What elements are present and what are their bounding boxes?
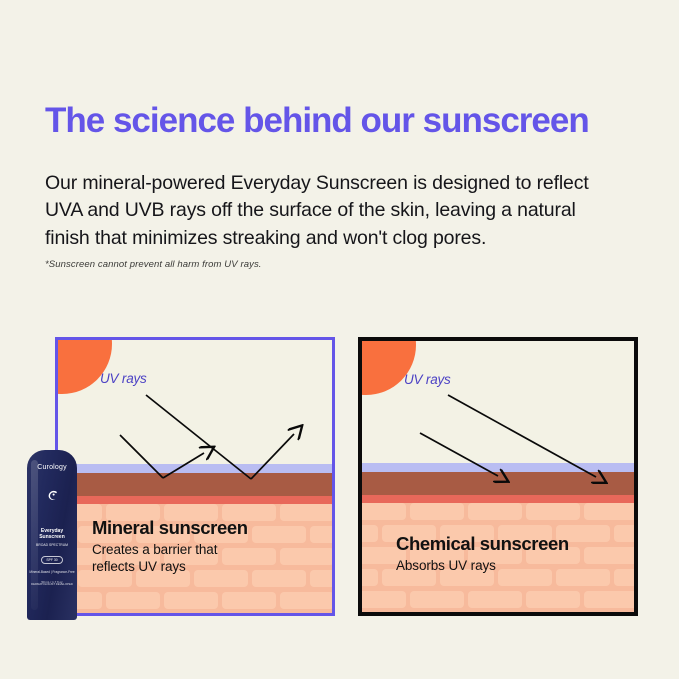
sunscreen-barrier-layer-mineral — [58, 464, 332, 473]
panel-scene-mineral: UV rays — [58, 340, 332, 613]
panel-scene-chemical: UV rays — [362, 341, 634, 612]
brick — [584, 591, 634, 608]
panel-caption-mineral: Mineral sunscreen Creates a barrier that… — [92, 517, 248, 575]
uv-rays-label-mineral: UV rays — [100, 371, 147, 386]
brick — [584, 503, 634, 520]
disclaimer-footnote: *Sunscreen cannot prevent all harm from … — [45, 259, 262, 270]
sunscreen-science-infographic: The science behind our sunscreen Our min… — [0, 0, 679, 679]
tube-product-name-line2: Sunscreen — [27, 534, 77, 540]
tube-size-text: 50 mL / 1.7 fl oz — [27, 580, 77, 584]
brick — [106, 592, 160, 609]
panel-subtitle-chemical-line1: Absorbs UV rays — [396, 557, 569, 574]
panel-subtitle-mineral-line2: reflects UV rays — [92, 558, 248, 575]
diagram-panel-mineral: UV rays — [55, 337, 335, 616]
blood-vessel-layer-mineral — [58, 496, 332, 504]
brick — [362, 525, 378, 542]
brick — [614, 525, 634, 542]
brick — [310, 570, 332, 587]
brick — [362, 503, 406, 520]
panel-subtitle-mineral-line1: Creates a barrier that — [92, 541, 248, 558]
brick — [362, 591, 406, 608]
curology-logo-icon — [45, 488, 60, 503]
sunscreen-barrier-layer-chemical — [362, 463, 634, 472]
tube-descriptor: BROAD SPECTRUM — [27, 543, 77, 548]
dermis-layer-mineral — [58, 473, 332, 496]
brick — [252, 526, 306, 543]
brick-row — [362, 503, 634, 525]
brick — [526, 591, 580, 608]
brick — [280, 592, 332, 609]
tube-claim: Mineral-Based | Fragrance-Free — [27, 570, 77, 575]
panel-title-chemical: Chemical sunscreen — [396, 533, 569, 555]
brick — [410, 591, 464, 608]
product-tube-everyday-sunscreen: Curology Everyday Sunscreen BROAD SPECTR… — [27, 450, 77, 620]
diagram-panel-chemical: UV rays — [358, 337, 638, 616]
panel-caption-chemical: Chemical sunscreen Absorbs UV rays — [396, 533, 569, 574]
brick — [526, 503, 580, 520]
uv-rays-label-chemical: UV rays — [404, 372, 451, 387]
brick — [468, 503, 522, 520]
brick — [362, 569, 378, 586]
brick — [614, 569, 634, 586]
brick — [468, 591, 522, 608]
blood-vessel-layer-chemical — [362, 495, 634, 503]
brick — [410, 503, 464, 520]
brick — [584, 547, 634, 564]
intro-paragraph: Our mineral-powered Everyday Sunscreen i… — [45, 170, 590, 253]
brick — [222, 592, 276, 609]
tube-brand-name: Curology — [27, 464, 77, 471]
brick — [280, 548, 332, 565]
dermis-layer-chemical — [362, 472, 634, 495]
tube-spf-badge: SPF 30 — [41, 556, 62, 564]
brick — [310, 526, 332, 543]
panel-title-mineral: Mineral sunscreen — [92, 517, 248, 539]
tube-label-block: Everyday Sunscreen BROAD SPECTRUM SPF 30… — [27, 528, 77, 586]
brick — [252, 570, 306, 587]
brick-row — [362, 591, 634, 612]
brick — [280, 504, 332, 521]
brick-row — [58, 592, 332, 613]
brick — [164, 592, 218, 609]
page-title: The science behind our sunscreen — [45, 101, 589, 141]
